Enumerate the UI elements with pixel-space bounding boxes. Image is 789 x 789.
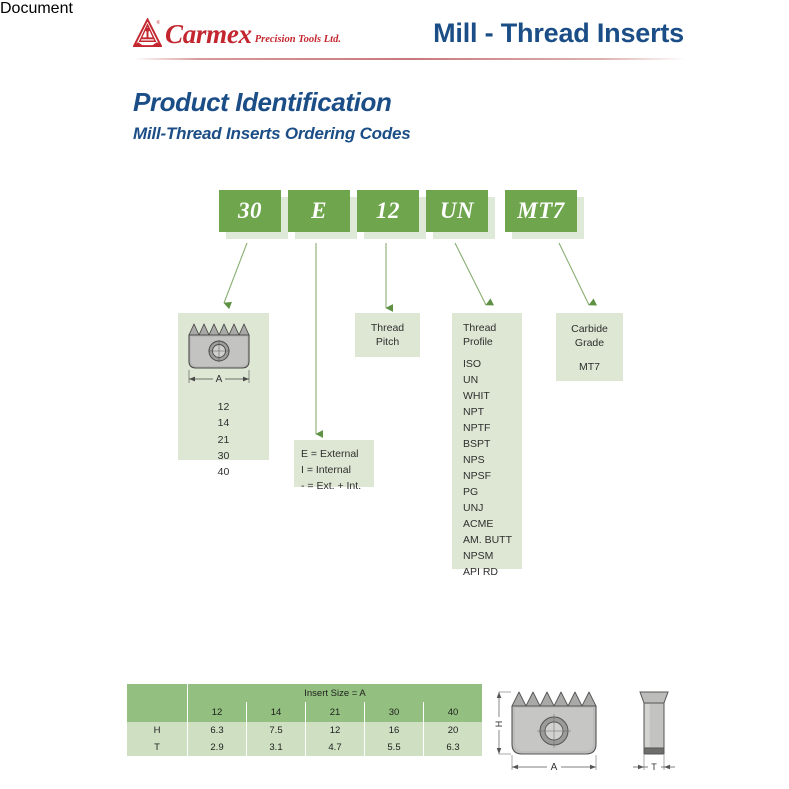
table-col-header: 30 <box>365 702 424 722</box>
code-box-pitch[interactable]: 12 <box>357 190 419 232</box>
code-box-grade[interactable]: MT7 <box>505 190 577 232</box>
code-box-face: MT7 <box>505 190 577 232</box>
insert-front-view-drawing-icon: H A <box>487 686 619 778</box>
table-col-header: 12 <box>188 702 247 722</box>
header-divider <box>133 58 686 60</box>
size-item: 14 <box>178 415 269 431</box>
insert-size-drawing-icon: A <box>178 313 269 393</box>
size-item: 21 <box>178 432 269 448</box>
insert-size-list: 12 14 21 30 40 <box>178 399 269 480</box>
table-corner-cell <box>127 702 188 722</box>
size-item: 12 <box>178 399 269 415</box>
front-dim-height-label: H <box>494 721 504 728</box>
arrow-grade <box>559 243 589 305</box>
table-col-header: 21 <box>306 702 365 722</box>
table-col-header: 14 <box>247 702 306 722</box>
thread-profile-title-1: Thread <box>463 321 522 335</box>
code-box-value: 12 <box>376 198 400 224</box>
ext-int-line: E = External <box>301 447 374 463</box>
brand-logo: ® Carmex Precision Tools Ltd. <box>133 18 341 48</box>
front-dim-width-label: A <box>551 762 558 773</box>
code-box-face: 30 <box>219 190 281 232</box>
table-row-label: T <box>127 739 188 756</box>
table-cell: 20 <box>424 722 483 739</box>
side-dim-thickness-label: T <box>651 762 657 772</box>
table-corner-cell <box>127 684 188 702</box>
code-box-value: MT7 <box>517 198 565 224</box>
thread-profile-item: UN <box>463 373 522 389</box>
code-box-face: 12 <box>357 190 419 232</box>
table-cell: 6.3 <box>424 739 483 756</box>
panel-ext-int: E = External I = Internal - = Ext. + Int… <box>294 440 374 487</box>
code-box-size[interactable]: 30 <box>219 190 281 232</box>
table-span-header: Insert Size = A <box>188 684 483 702</box>
table-cell: 7.5 <box>247 722 306 739</box>
size-item: 30 <box>178 448 269 464</box>
table-span-header-row: Insert Size = A <box>127 684 482 702</box>
page-title: Mill - Thread Inserts <box>433 18 684 49</box>
thread-pitch-title-2: Pitch <box>376 335 399 349</box>
thread-profile-item: NPTF <box>463 421 522 437</box>
brand-tagline: Precision Tools Ltd. <box>255 35 341 49</box>
section-subtitle: Mill-Thread Inserts Ordering Codes <box>133 124 411 144</box>
thread-profile-item: AM. BUTT <box>463 533 522 549</box>
table-col-header: 40 <box>424 702 483 722</box>
code-box-face: UN <box>426 190 488 232</box>
svg-text:A: A <box>216 374 223 385</box>
table-cell: 12 <box>306 722 365 739</box>
table-cell: 4.7 <box>306 739 365 756</box>
code-box-extint[interactable]: E <box>288 190 350 232</box>
brand-name: Carmex <box>165 21 252 48</box>
table-cell: 5.5 <box>365 739 424 756</box>
table-header-row: 12 14 21 30 40 <box>127 702 482 722</box>
thread-profile-item: API RD <box>463 565 522 581</box>
thread-profile-item: UNJ <box>463 501 522 517</box>
code-box-value: UN <box>440 198 474 224</box>
table-cell: 6.3 <box>188 722 247 739</box>
ext-int-line: I = Internal <box>301 463 374 479</box>
thread-profile-item: ISO <box>463 357 522 373</box>
arrow-size <box>224 243 247 303</box>
thread-profile-item: NPSF <box>463 469 522 485</box>
code-box-profile[interactable]: UN <box>426 190 488 232</box>
code-box-face: E <box>288 190 350 232</box>
thread-profile-item: NPT <box>463 405 522 421</box>
code-box-value: 30 <box>238 198 262 224</box>
thread-profile-item: PG <box>463 485 522 501</box>
table-cell: 16 <box>365 722 424 739</box>
page-header: ® Carmex Precision Tools Ltd. Mill - Thr… <box>0 0 789 62</box>
insert-side-view-drawing-icon: T <box>625 686 683 778</box>
connector-arrows <box>0 0 789 789</box>
thread-pitch-title-1: Thread <box>371 321 404 335</box>
svg-text:®: ® <box>156 19 160 26</box>
thread-profile-item: WHIT <box>463 389 522 405</box>
section-title: Product Identification <box>133 87 391 118</box>
thread-profile-item: ACME <box>463 517 522 533</box>
panel-carbide-grade: Carbide Grade MT7 <box>556 313 623 381</box>
table-row: H 6.3 7.5 12 16 20 <box>127 722 482 739</box>
carmex-triangle-logo-icon: ® <box>133 18 162 48</box>
thread-profile-item: BSPT <box>463 437 522 453</box>
table-row: T 2.9 3.1 4.7 5.5 6.3 <box>127 739 482 756</box>
spec-table: Insert Size = A 12 14 21 30 40 H 6.3 7.5… <box>127 684 482 756</box>
panel-thread-profile: Thread Profile ISO UN WHIT NPT NPTF BSPT… <box>452 313 522 569</box>
table-cell: 2.9 <box>188 739 247 756</box>
thread-profile-item: NPSM <box>463 549 522 565</box>
ext-int-line: - = Ext. + Int. <box>301 479 374 495</box>
table-row-label: H <box>127 722 188 739</box>
thread-profile-item: NPS <box>463 453 522 469</box>
panel-insert-size: A 12 14 21 30 40 <box>178 313 269 460</box>
code-box-value: E <box>311 198 327 224</box>
arrow-profile <box>455 243 486 305</box>
panel-thread-pitch: Thread Pitch <box>355 313 420 357</box>
carbide-grade-title-1: Carbide <box>571 322 608 336</box>
carbide-grade-title-2: Grade <box>575 336 604 350</box>
carbide-grade-value: MT7 <box>579 360 600 376</box>
size-item: 40 <box>178 464 269 480</box>
table-cell: 3.1 <box>247 739 306 756</box>
thread-profile-title-2: Profile <box>463 335 522 349</box>
